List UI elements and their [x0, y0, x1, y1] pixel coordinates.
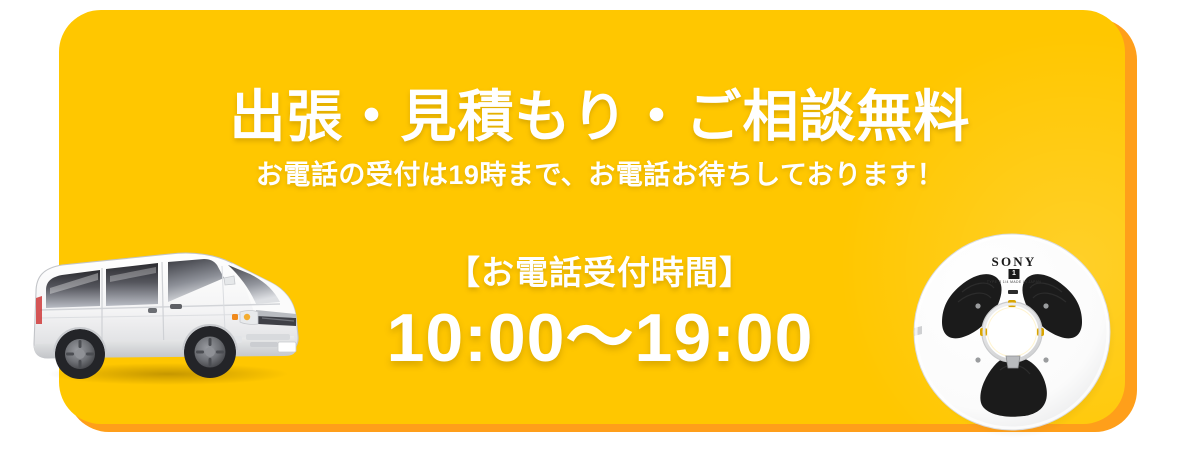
headline: 出張・見積もり・ご相談無料	[0, 88, 1200, 147]
van-icon	[18, 232, 308, 387]
promo-banner: 出張・見積もり・ご相談無料 お電話の受付は19時まで、お電話お待ちしております！…	[0, 0, 1200, 450]
tape-reel-icon: SONY 1 TYPE R 1/4 MADE IN JAPAN	[908, 228, 1120, 440]
subheadline: お電話の受付は19時まで、お電話お待ちしております！	[0, 160, 1200, 191]
